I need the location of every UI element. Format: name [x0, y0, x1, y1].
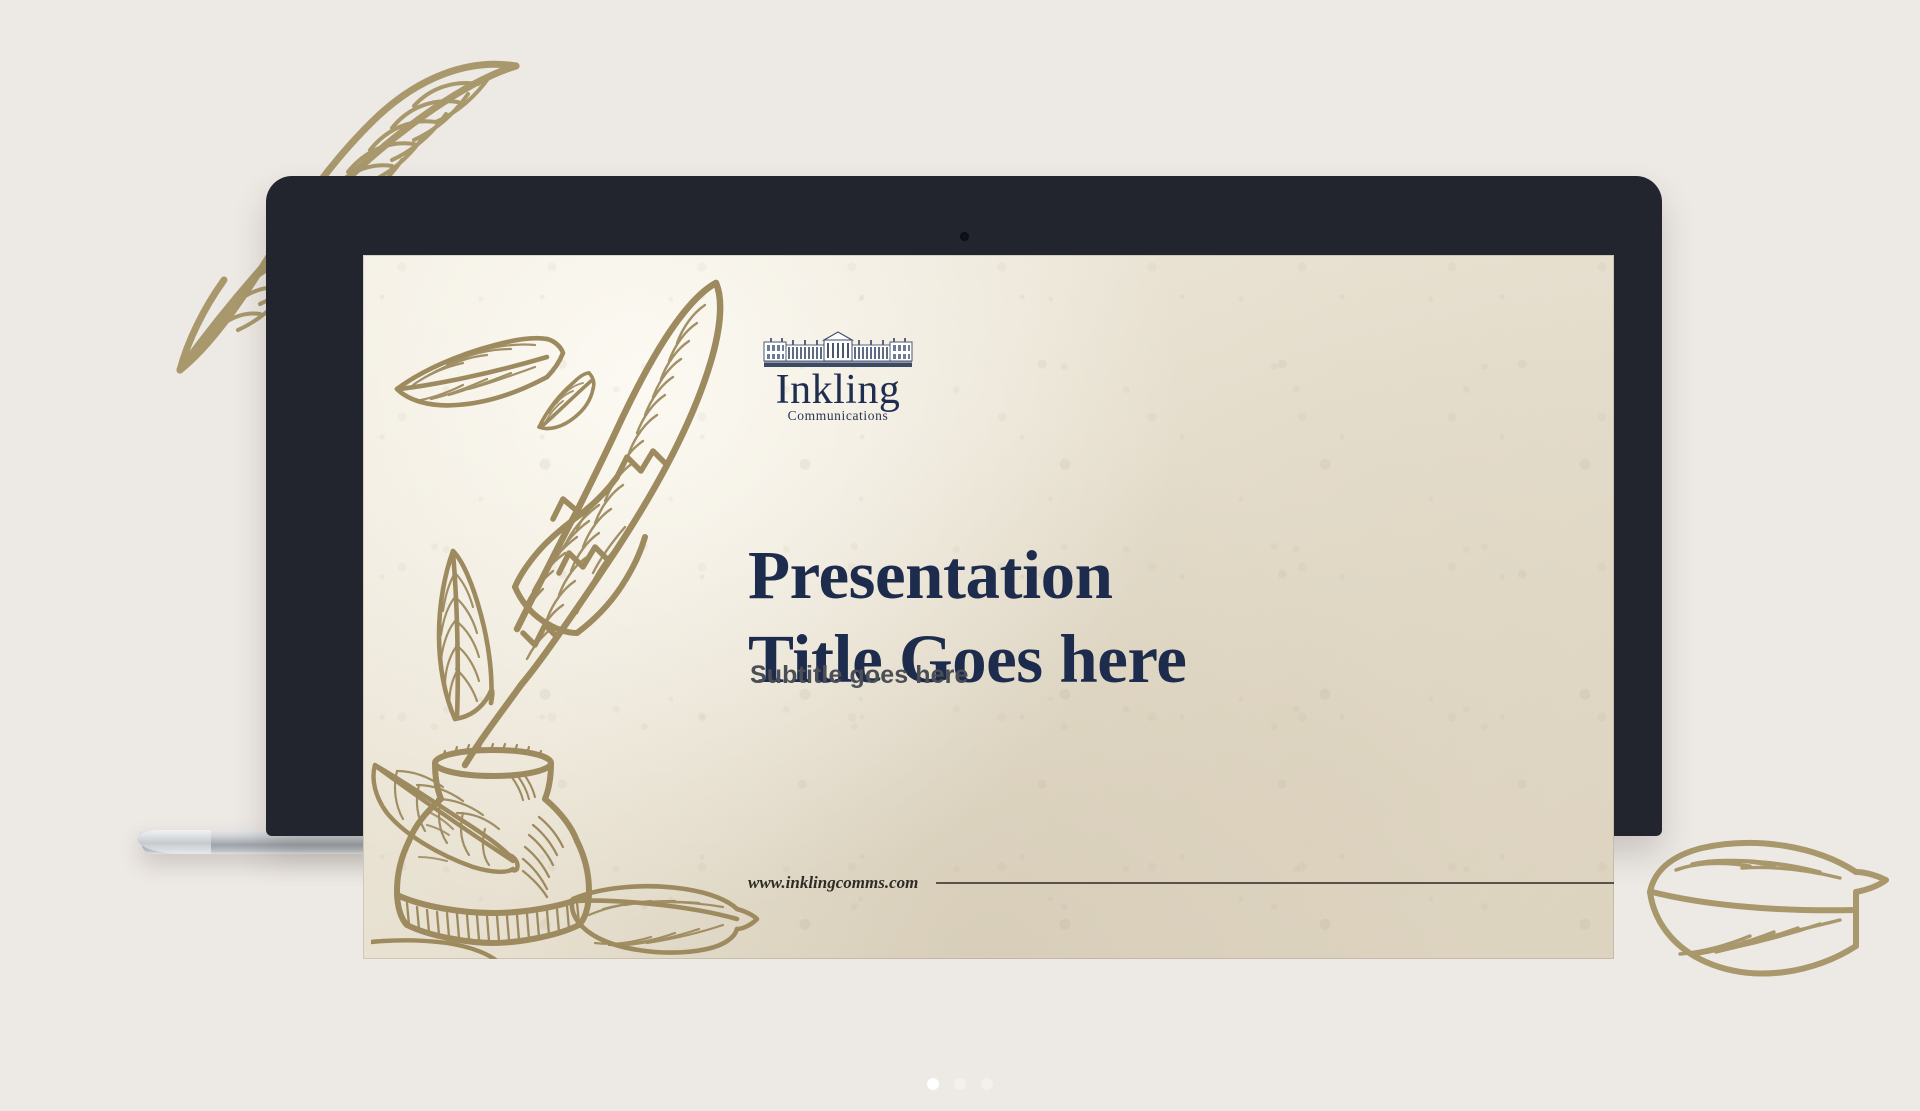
- brand-tagline: Communications: [748, 408, 928, 424]
- footer-divider: [936, 882, 1614, 884]
- title-line-1: Presentation: [748, 537, 1113, 613]
- page-subtitle: Subtitle goes here: [750, 661, 969, 690]
- presentation-mockup-stage: Inkling Communications Presentation Titl…: [0, 0, 1920, 1111]
- carousel-dot-2[interactable]: [954, 1078, 966, 1090]
- classical-building-icon: [762, 331, 914, 369]
- slide-footer: www.inklingcomms.com: [748, 873, 1614, 893]
- webcam-icon: [960, 232, 969, 241]
- laptop-mockup: Inkling Communications Presentation Titl…: [266, 176, 1662, 836]
- slide-content: Inkling Communications Presentation Titl…: [748, 255, 1608, 959]
- carousel-dot-1[interactable]: [927, 1078, 939, 1090]
- carousel-dot-3[interactable]: [981, 1078, 993, 1090]
- brand-logo: Inkling Communications: [748, 331, 928, 411]
- carousel-pagination[interactable]: [0, 1078, 1920, 1090]
- brand-wordmark: Inkling: [748, 371, 928, 411]
- feather-icon: [1640, 800, 1920, 1010]
- footer-website-url[interactable]: www.inklingcomms.com: [748, 873, 918, 893]
- presentation-slide[interactable]: Inkling Communications Presentation Titl…: [363, 255, 1614, 959]
